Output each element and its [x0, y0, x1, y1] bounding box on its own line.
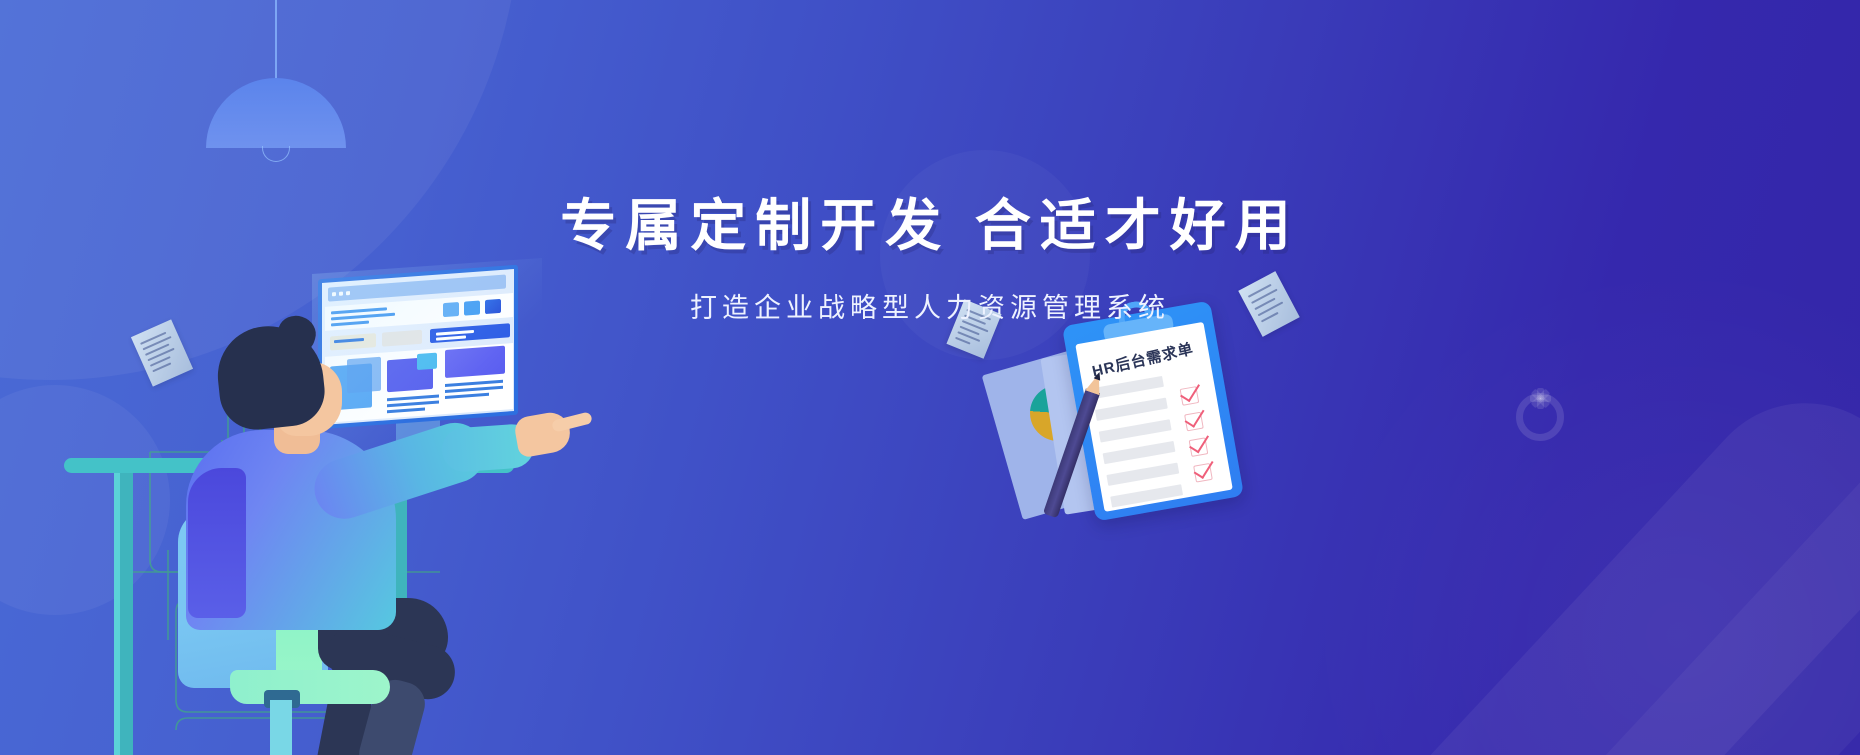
hr-requirement-clipboard: HR后台需求单	[1000, 290, 1260, 540]
developer-character	[170, 318, 590, 755]
character-shoulder	[188, 468, 246, 618]
lamp-bulb	[262, 146, 290, 162]
clipboard-sheet: HR后台需求单	[1075, 322, 1233, 512]
pendant-lamp-icon	[206, 0, 346, 165]
lamp-shade	[206, 78, 346, 148]
background-diagonal-bar-1	[1282, 359, 1860, 755]
background-corner-glow	[1300, 255, 1860, 755]
desk-leg-left	[120, 472, 133, 755]
background-diagonal-bar-2	[1519, 336, 1860, 755]
page-subtitle: 打造企业战略型人力资源管理系统	[0, 286, 1860, 325]
page-title: 专属定制开发 合适才好用	[0, 196, 1860, 256]
chair-post	[270, 700, 292, 755]
chair-seat	[230, 670, 390, 704]
gear-icon-right	[1516, 393, 1564, 441]
lamp-cord	[275, 0, 277, 80]
hero-banner: HR后台需求单 专属定制开发 合适才	[0, 0, 1860, 755]
